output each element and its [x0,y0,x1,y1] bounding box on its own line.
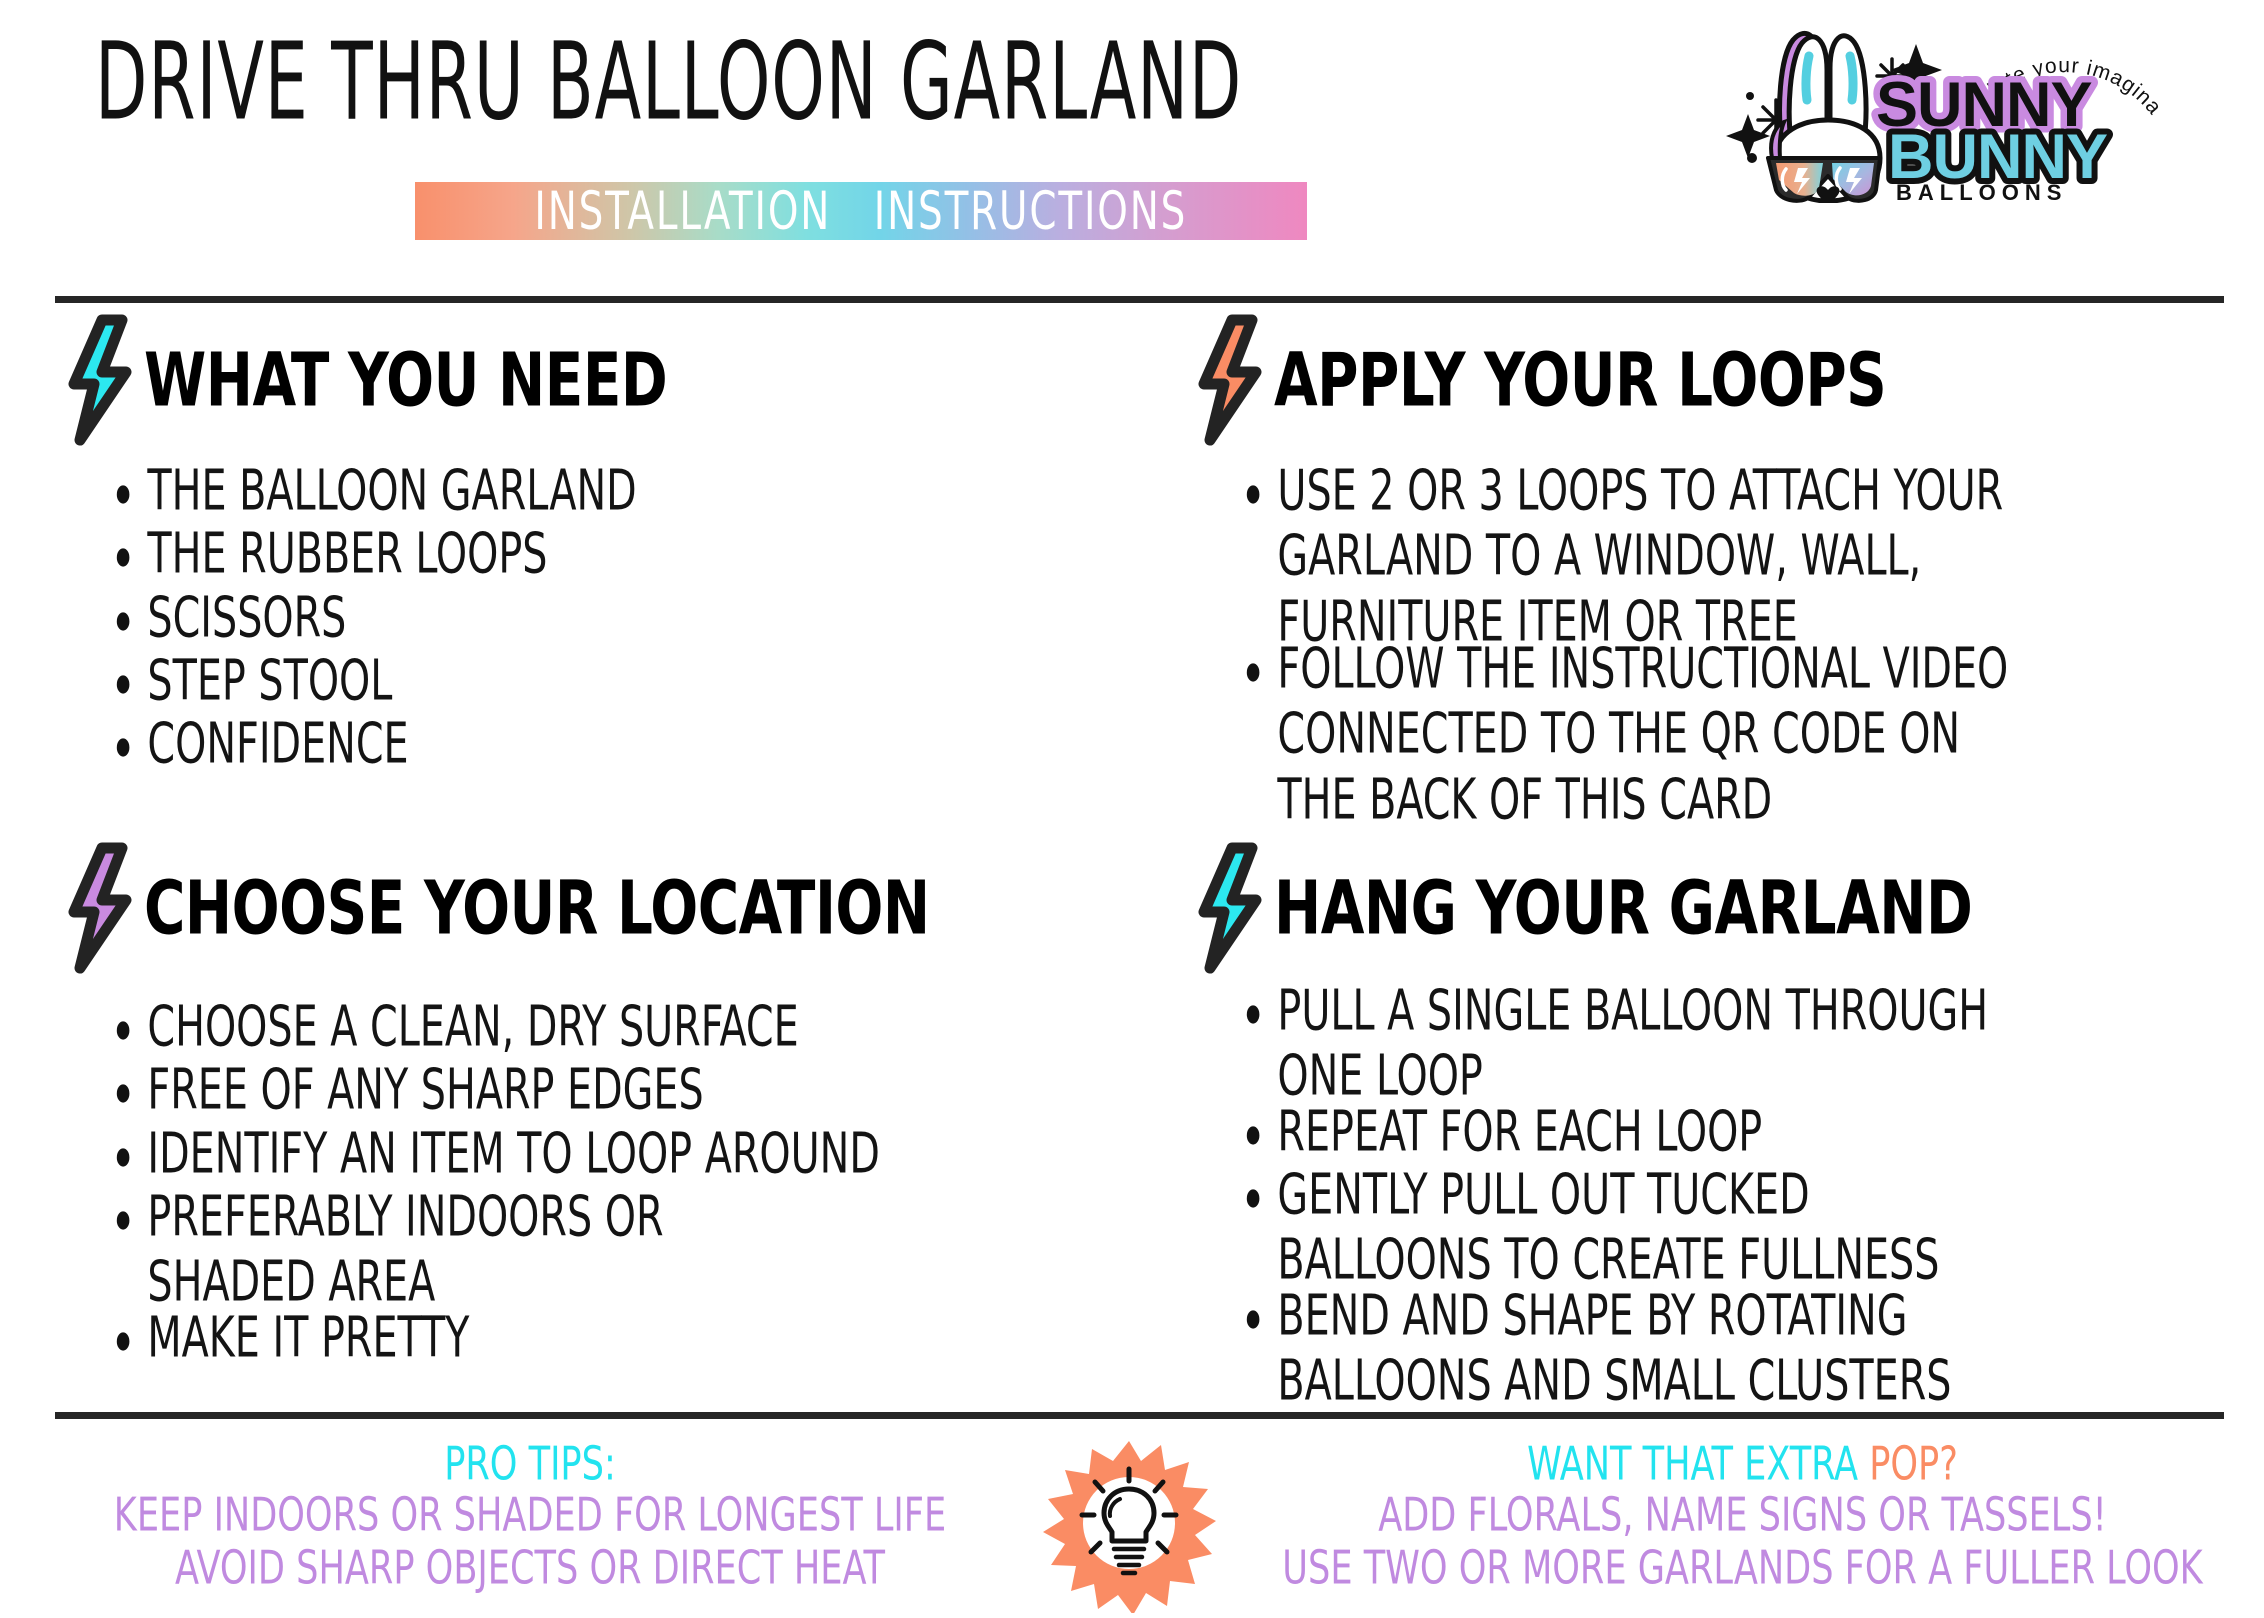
section-header: APPLY YOUR LOOPS [1190,320,2230,440]
section-title: CHOOSE YOUR LOCATION [144,865,930,951]
header: DRIVE THRU BALLOON GARLAND INSTALLATION … [0,0,2264,300]
list-item: PULL A SINGLE BALLOON THROUGH ONE LOOP [1245,978,2132,1109]
footer-extra-pop: WANT THAT EXTRA POP? ADD FLORALS, NAME S… [1235,1438,2250,1594]
list-item: GENTLY PULL OUT TUCKED BALLOONS TO CREAT… [1245,1162,2132,1293]
list-item: MAKE IT PRETTY [115,1305,1074,1370]
list-item: USE 2 OR 3 LOOPS TO ATTACH YOUR GARLAND … [1245,458,2132,654]
section-title: APPLY YOUR LOOPS [1274,337,1886,423]
section-title: HANG YOUR GARLAND [1274,865,1972,951]
section-what-you-need: WHAT YOU NEED THE BALLOON GARLAND THE RU… [60,320,1180,775]
footer: PRO TIPS: KEEP INDOORS OR SHADED FOR LON… [0,1430,2264,1618]
section-header: HANG YOUR GARLAND [1190,848,2230,968]
lightning-bolt-icon [1190,842,1266,974]
section-list: USE 2 OR 3 LOOPS TO ATTACH YOUR GARLAND … [1245,458,2230,808]
section-choose-your-location: CHOOSE YOUR LOCATION CHOOSE A CLEAN, DRY… [60,848,1180,1368]
extra-pop-line: USE TWO OR MORE GARLANDS FOR A FULLER LO… [1271,1539,2215,1597]
list-item: FOLLOW THE INSTRUCTIONAL VIDEO CONNECTED… [1245,636,2132,832]
pro-tips-heading: PRO TIPS: [65,1435,995,1491]
list-item: REPEAT FOR EACH LOOP [1245,1099,2132,1164]
list-item: BEND AND SHAPE BY ROTATING BALLOONS AND … [1245,1283,2132,1414]
page-title: DRIVE THRU BALLOON GARLAND [95,28,1242,135]
section-hang-your-garland: HANG YOUR GARLAND PULL A SINGLE BALLOON … [1190,848,2230,1403]
list-item: CONFIDENCE [115,711,1074,776]
svg-text:BALLOONS: BALLOONS [1896,180,2067,203]
pro-tips-line: KEEP INDOORS OR SHADED FOR LONGEST LIFE [65,1487,995,1545]
lightning-bolt-icon [60,314,136,446]
list-item: SCISSORS [115,585,1074,650]
list-item: THE BALLOON GARLAND [115,458,1074,523]
section-list: PULL A SINGLE BALLOON THROUGH ONE LOOP R… [1245,978,2230,1397]
section-header: WHAT YOU NEED [60,320,1180,440]
pro-tips-line: AVOID SHARP OBJECTS OR DIRECT HEAT [65,1539,995,1597]
pop-label: POP? [1869,1437,1958,1491]
list-item: FREE OF ANY SHARP EDGES [115,1057,1074,1122]
extra-pop-line: ADD FLORALS, NAME SIGNS OR TASSELS! [1271,1487,2215,1545]
subtitle-banner: INSTALLATION INSTRUCTIONS [415,182,1307,240]
section-list: THE BALLOON GARLAND THE RUBBER LOOPS SCI… [115,458,1180,769]
list-item: IDENTIFY AN ITEM TO LOOP AROUND [115,1121,1074,1186]
list-item: STEP STOOL [115,648,1074,713]
main-content: WHAT YOU NEED THE BALLOON GARLAND THE RU… [0,320,2264,1410]
list-item: CHOOSE A CLEAN, DRY SURFACE [115,994,1074,1059]
extra-pop-label: WANT THAT EXTRA [1527,1437,1869,1491]
sun-lightbulb-icon [1038,1433,1220,1613]
footer-pro-tips: PRO TIPS: KEEP INDOORS OR SHADED FOR LON… [30,1438,1030,1594]
divider-bottom [55,1412,2224,1419]
subtitle-text: INSTALLATION INSTRUCTIONS [535,180,1188,242]
section-list: CHOOSE A CLEAN, DRY SURFACE FREE OF ANY … [115,994,1180,1362]
brand-logo: inflate your imagination SUNNY SUNNY BUN… [1680,8,2240,203]
section-header: CHOOSE YOUR LOCATION [60,848,1180,968]
extra-pop-heading: WANT THAT EXTRA POP? [1271,1435,2215,1491]
lightning-bolt-icon [1190,314,1266,446]
list-item: THE RUBBER LOOPS [115,521,1074,586]
section-apply-your-loops: APPLY YOUR LOOPS USE 2 OR 3 LOOPS TO ATT… [1190,320,2230,814]
section-title: WHAT YOU NEED [144,337,667,423]
list-item: PREFERABLY INDOORS OR SHADED AREA [115,1184,1074,1315]
divider-top [55,296,2224,303]
pro-tips-label: PRO TIPS: [444,1437,616,1491]
lightning-bolt-icon [60,842,136,974]
